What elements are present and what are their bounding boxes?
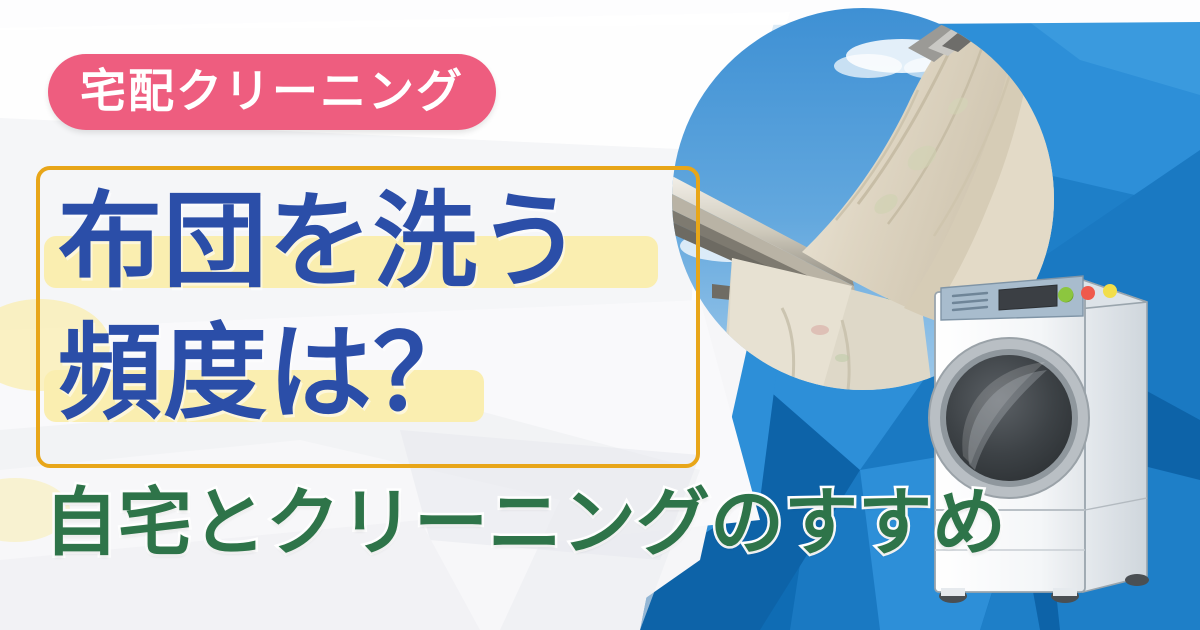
subtitle-text: 自宅とクリーニングのすすめ [44,486,1006,560]
category-badge: 宅配クリーニング [48,54,496,130]
title-line-1: 布団を洗う [58,176,688,308]
title-text-line-1: 布団を洗う [58,190,583,294]
poster-canvas: 宅配クリーニング 布団を洗う 頻度は？ [0,0,1200,630]
title-text-line-2: 頻度は？ [58,322,478,426]
category-badge-label: 宅配クリーニング [80,68,464,114]
title-line-2: 頻度は？ [58,308,688,440]
page-title: 布団を洗う 頻度は？ [58,176,688,464]
